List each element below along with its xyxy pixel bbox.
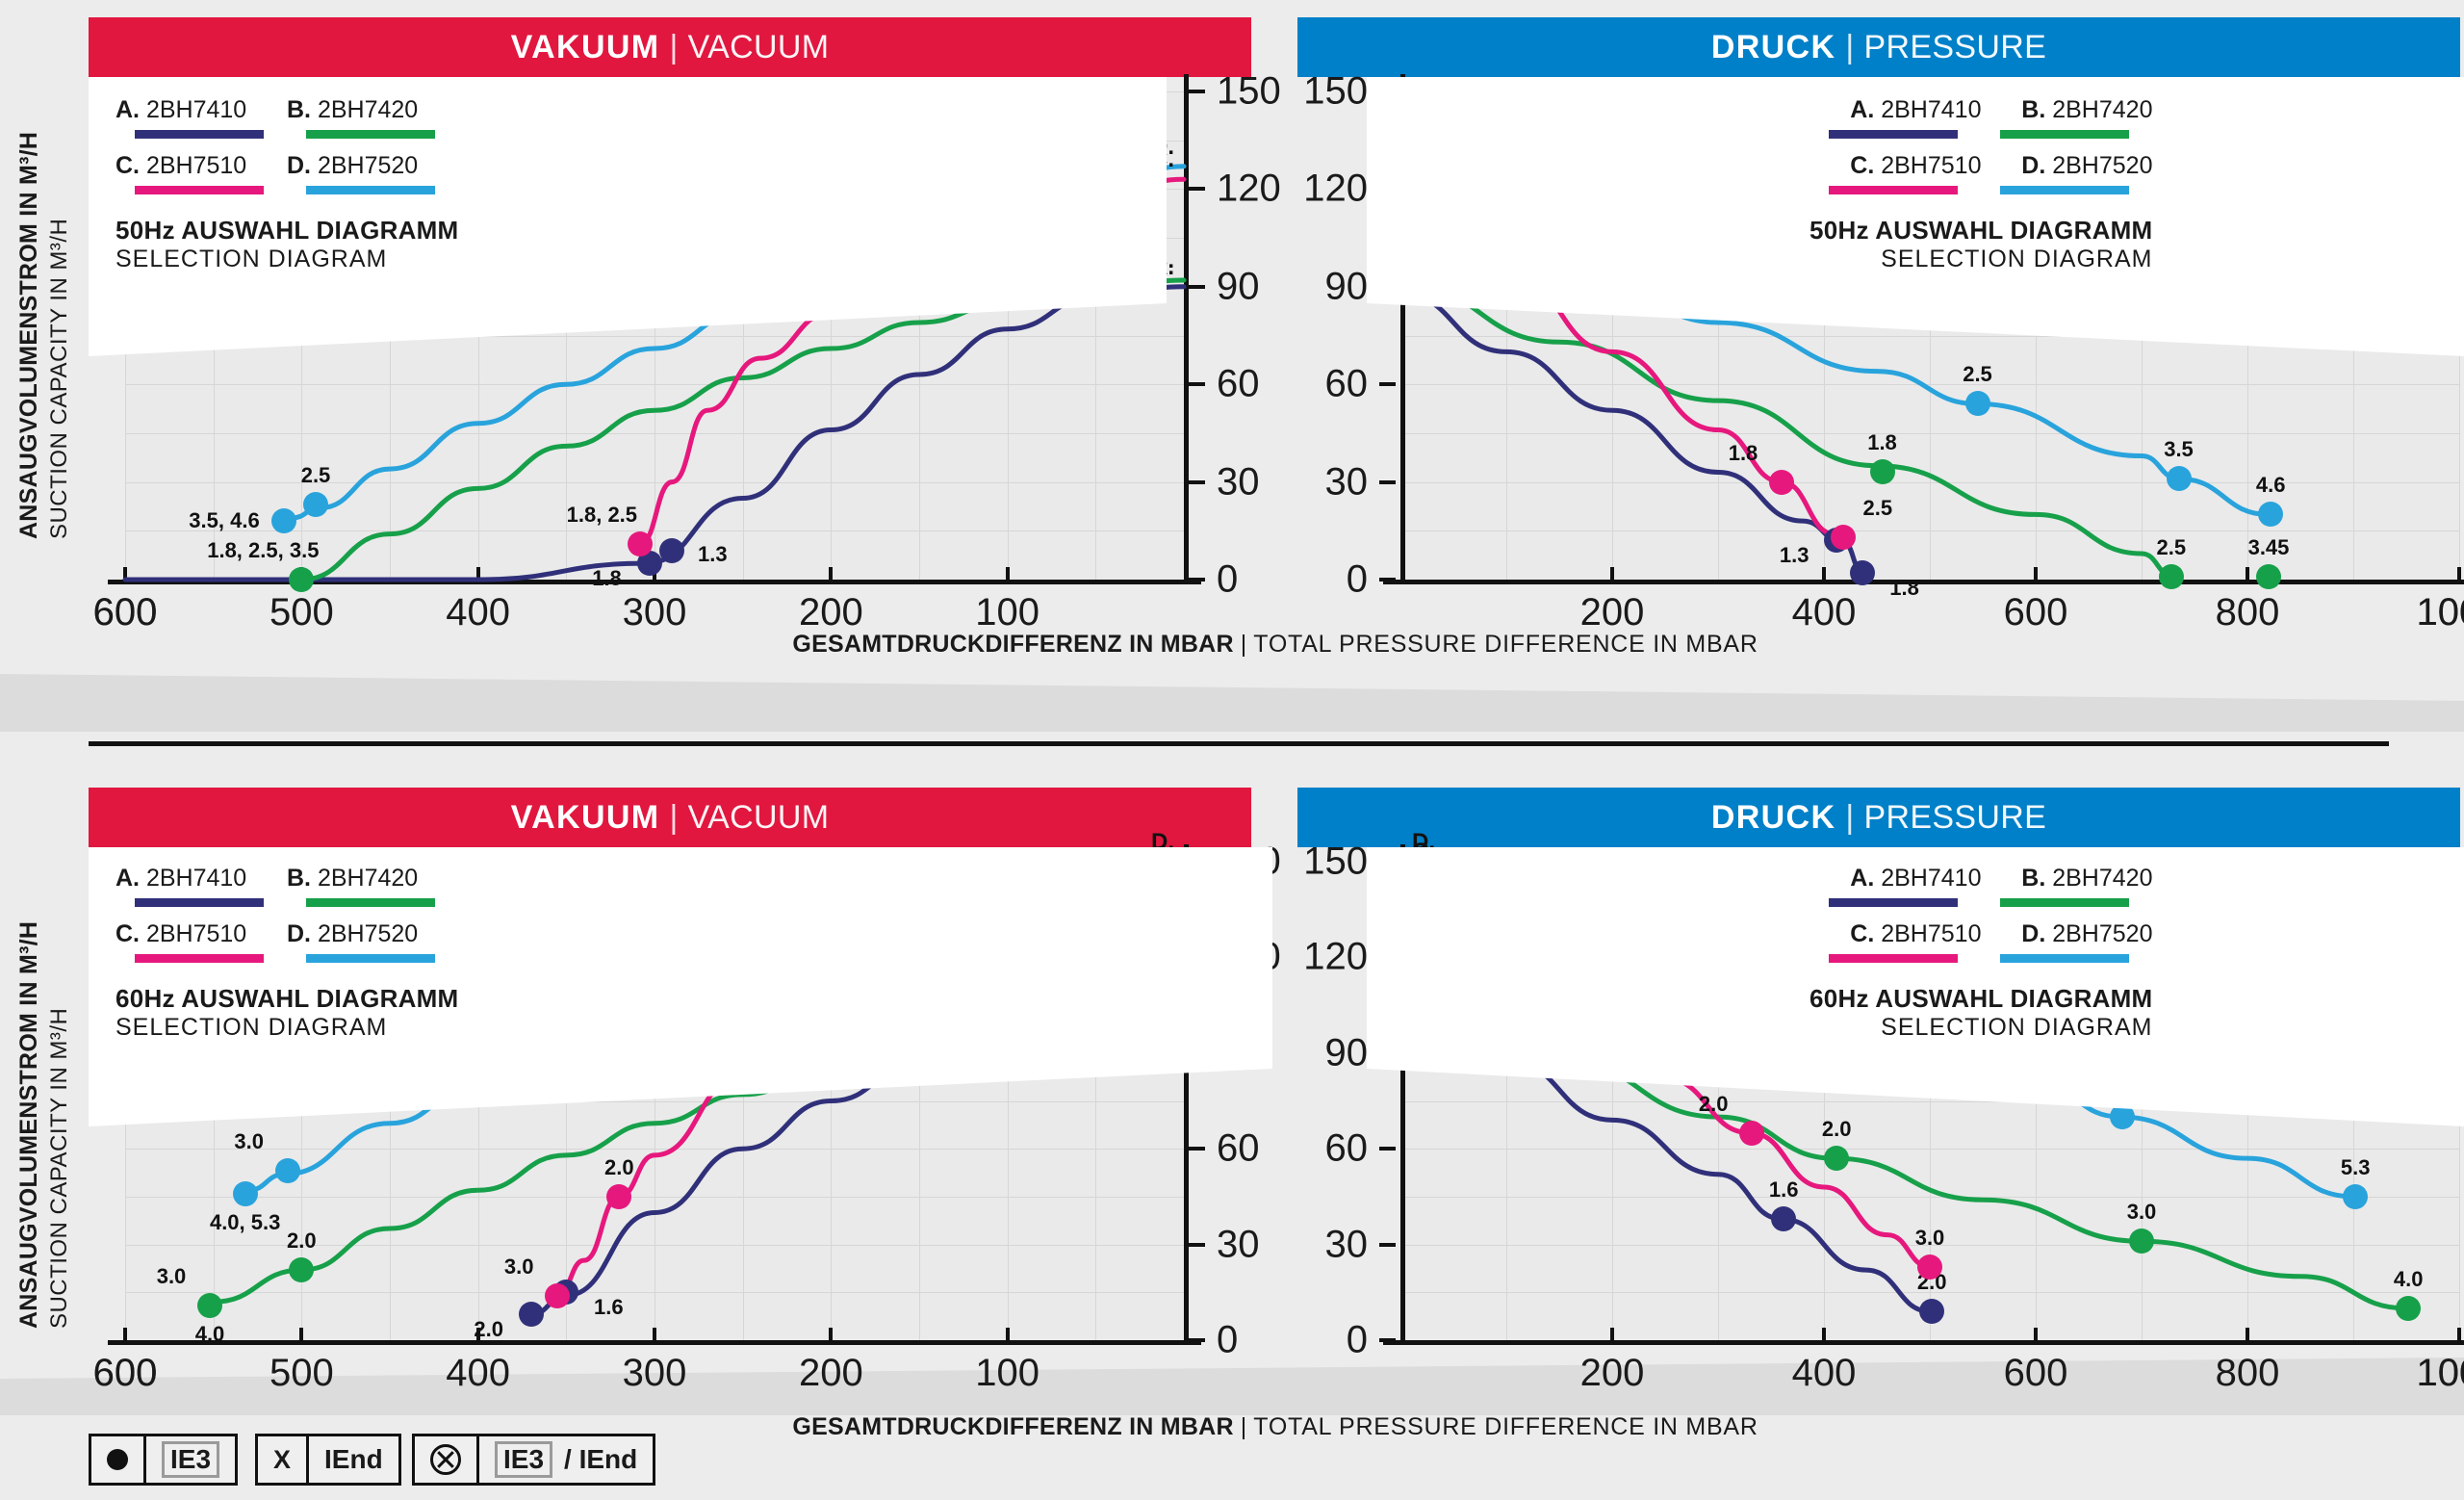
symbol-legend-iend: X IEnd <box>255 1434 401 1486</box>
y-tick-label: 60 <box>1325 363 1369 406</box>
data-point-label: 3.0 <box>234 1129 264 1154</box>
legend-hz-sub-prs60: SELECTION DIAGRAM <box>1809 1014 2152 1042</box>
x-tick <box>2034 1328 2038 1340</box>
data-point-marker <box>1771 1206 1796 1231</box>
x-tick-label: 200 <box>1580 1352 1645 1395</box>
x-tick <box>1610 1328 1614 1340</box>
legend-swatch-2BH7410 <box>1829 130 1958 139</box>
data-point-marker <box>1965 391 1990 416</box>
legend-model-2BH7510: 2BH7510 <box>1874 152 1981 179</box>
x-tick-label: 600 <box>2004 1352 2068 1395</box>
data-point-label: 2.0 <box>1699 1092 1729 1117</box>
x-tick-label: 600 <box>93 591 158 634</box>
data-point-label: 4.0 <box>195 1322 225 1347</box>
data-point-label: 3.0 <box>1915 1226 1945 1251</box>
legend-head-2BH7520: D. 2BH7520 <box>1981 920 2152 948</box>
data-point-label: 3.0 <box>504 1254 534 1280</box>
x-tick-label: 800 <box>2216 591 2280 634</box>
legend-row-1: A. 2BH7410B. 2BH7420 <box>1809 865 2152 920</box>
y-tick-label: 60 <box>1217 363 1260 406</box>
panel-title-separator-vac50: | <box>669 29 678 66</box>
x-tick <box>829 567 833 580</box>
data-point-label: 3.45 <box>2248 535 2290 560</box>
x-axis-prs50 <box>1383 580 2464 584</box>
y-axis-caption-bold-2: ANSAUGVOLUMENSTROM IN M³/H <box>15 921 43 1329</box>
gridline-horizontal <box>1400 1149 2459 1150</box>
data-point-marker <box>233 1181 258 1206</box>
y-tick <box>1189 1147 1205 1151</box>
legend-head-2BH7510: C. 2BH7510 <box>1809 920 1981 948</box>
gridline-horizontal <box>125 1245 1184 1246</box>
panel-title-prs60: DRUCK|PRESSURE <box>1297 788 2460 847</box>
legend-head-2BH7420: B. 2BH7420 <box>1981 865 2152 892</box>
data-point-marker <box>303 492 328 517</box>
x-tick-label: 200 <box>799 1352 863 1395</box>
symbol-cell-circle-x <box>415 1436 476 1483</box>
legend-key-A: A. <box>115 865 140 892</box>
legend-key-D: D. <box>287 920 311 947</box>
x-tick <box>2457 1328 2461 1340</box>
symbol-cell-ie3: IE3 <box>143 1436 235 1483</box>
legend-head-2BH7510: C. 2BH7510 <box>115 920 287 948</box>
panel-title-bold-vac50: VAKUUM <box>511 29 660 66</box>
y-tick-label: 120 <box>1303 936 1368 979</box>
data-point-marker <box>289 567 314 592</box>
legend-item-2BH7420: B. 2BH7420 <box>1981 96 2152 152</box>
legend-item-2BH7420: B. 2BH7420 <box>1981 865 2152 920</box>
symbol-cell-iend: IEnd <box>306 1436 398 1483</box>
panel-title-light-vac50: VACUUM <box>688 29 830 66</box>
legend-prs50: A. 2BH7410B. 2BH7420C. 2BH7510D. 2BH7520… <box>1809 96 2152 273</box>
legend-model-2BH7420: 2BH7420 <box>311 865 418 892</box>
legend-model-2BH7510: 2BH7510 <box>140 152 246 179</box>
legend-item-2BH7410: A. 2BH7410 <box>1809 96 1981 152</box>
gridline-horizontal <box>125 1292 1184 1293</box>
x-axis-caption-top: GESAMTDRUCKDIFFERENZ IN MBAR|TOTAL PRESS… <box>792 631 1758 659</box>
symbol-legend-both: IE3 / IEnd <box>412 1434 655 1486</box>
data-point-marker <box>2159 564 2184 589</box>
gridline-horizontal <box>125 433 1184 434</box>
gridline-horizontal <box>1400 384 2459 385</box>
y-axis-caption-light: SUCTION CAPACITY IN M³/H <box>46 132 73 539</box>
legend-hz-title-prs50: 50Hz AUSWAHL DIAGRAMM <box>1809 216 2152 246</box>
legend-hz-sub-vac60: SELECTION DIAGRAM <box>115 1014 458 1042</box>
x-tick <box>2246 567 2249 580</box>
legend-row-1: A. 2BH7410B. 2BH7420 <box>1809 96 2152 152</box>
y-tick <box>1189 90 1205 93</box>
x-tick <box>653 1328 656 1340</box>
legend-swatch-2BH7410 <box>135 898 264 907</box>
panel-title-light-prs60: PRESSURE <box>1864 799 2047 837</box>
data-point-marker <box>2343 1184 2368 1209</box>
circle-x-icon <box>430 1444 461 1475</box>
panel-title-separator-prs50: | <box>1845 29 1854 66</box>
legend-vac50: A. 2BH7410B. 2BH7420C. 2BH7510D. 2BH7520… <box>115 96 458 273</box>
legend-hz-title-vac50: 50Hz AUSWAHL DIAGRAMM <box>115 216 458 246</box>
legend-row-2: C. 2BH7510D. 2BH7520 <box>115 920 458 976</box>
legend-head-2BH7510: C. 2BH7510 <box>115 152 287 180</box>
y-axis-caption-light-2: SUCTION CAPACITY IN M³/H <box>46 921 73 1329</box>
legend-swatch-2BH7520 <box>306 186 435 194</box>
legend-key-D: D. <box>2021 920 2045 947</box>
y-tick-label: 90 <box>1325 265 1369 308</box>
x-tick-label: 600 <box>93 1352 158 1395</box>
data-point-label: 1.8 <box>1889 576 1919 601</box>
data-point-marker <box>2256 564 2281 589</box>
x-tick-label: 1000 <box>2417 591 2464 634</box>
y-axis-caption-top: ANSAUGVOLUMENSTROM IN M³/H SUCTION CAPAC… <box>15 132 73 539</box>
legend-swatch-2BH7520 <box>2000 186 2129 194</box>
legend-hz-sub-prs50: SELECTION DIAGRAM <box>1809 246 2152 273</box>
legend-item-2BH7410: A. 2BH7410 <box>115 96 287 152</box>
symbol-legend-ie3: IE3 <box>89 1434 238 1486</box>
y-tick <box>1379 382 1396 386</box>
x-tick <box>476 567 480 580</box>
x-tick-label: 400 <box>1792 591 1857 634</box>
legend-key-D: D. <box>287 152 311 179</box>
data-point-label: 1.8, 2.5, 3.5 <box>207 538 319 563</box>
legend-model-2BH7410: 2BH7410 <box>1874 865 1981 892</box>
ie3-label-2: IE3 <box>495 1441 552 1478</box>
x-tick <box>2034 567 2038 580</box>
data-point-label: 2.5 <box>301 463 331 488</box>
legend-vac60: A. 2BH7410B. 2BH7420C. 2BH7510D. 2BH7520… <box>115 865 458 1042</box>
legend-key-A: A. <box>1850 96 1874 123</box>
x-tick-label: 400 <box>446 1352 510 1395</box>
x-tick-label: 200 <box>1580 591 1645 634</box>
data-point-marker <box>519 1302 544 1327</box>
data-point-marker <box>1739 1121 1764 1146</box>
legend-swatch-2BH7410 <box>135 130 264 139</box>
legend-key-C: C. <box>1850 920 1874 947</box>
legend-swatch-2BH7510 <box>135 186 264 194</box>
legend-key-A: A. <box>1850 865 1874 892</box>
x-tick <box>1822 567 1826 580</box>
symbol-cell-ie3-iend: IE3 / IEnd <box>476 1436 653 1483</box>
data-point-label: 2.0 <box>604 1155 634 1180</box>
legend-swatch-2BH7520 <box>306 954 435 963</box>
data-point-marker <box>1769 470 1794 495</box>
legend-model-2BH7520: 2BH7520 <box>2045 920 2152 947</box>
y-tick-label: 30 <box>1217 1223 1260 1266</box>
decor-diagonal-bottom <box>0 1358 2464 1415</box>
x-tick <box>2246 1328 2249 1340</box>
data-point-marker <box>1917 1254 1942 1280</box>
x-tick <box>2457 567 2461 580</box>
x-tick-label: 500 <box>269 1352 334 1395</box>
data-point-label: 4.0 <box>2394 1267 2424 1292</box>
data-point-marker <box>628 531 653 556</box>
y-tick <box>1379 578 1396 582</box>
legend-swatch-2BH7410 <box>1829 898 1958 907</box>
legend-item-2BH7520: D. 2BH7520 <box>1981 920 2152 976</box>
ie3-label: IE3 <box>162 1441 219 1478</box>
legend-swatch-2BH7510 <box>135 954 264 963</box>
legend-key-B: B. <box>287 96 311 123</box>
y-axis-caption-bold: ANSAUGVOLUMENSTROM IN M³/H <box>15 132 43 539</box>
legend-head-2BH7510: C. 2BH7510 <box>1809 152 1981 180</box>
data-point-label: 1.3 <box>1780 543 1809 568</box>
panel-title-vac60: VAKUUM|VACUUM <box>89 788 1251 847</box>
gridline-horizontal <box>1400 433 2459 434</box>
data-point-marker <box>1919 1299 1944 1324</box>
legend-row-2: C. 2BH7510D. 2BH7520 <box>115 152 458 208</box>
data-point-label: 4.6 <box>2256 473 2286 498</box>
legend-hz-title-prs60: 60Hz AUSWAHL DIAGRAMM <box>1809 984 2152 1014</box>
data-point-label: 3.0 <box>157 1264 187 1289</box>
y-tick-label: 120 <box>1303 168 1368 211</box>
x-caption-light-2: TOTAL PRESSURE DIFFERENCE IN MBAR <box>1253 1413 1758 1440</box>
data-point-label: 4.0, 5.3 <box>210 1210 280 1235</box>
legend-key-C: C. <box>115 152 140 179</box>
y-tick <box>1189 480 1205 484</box>
x-tick-label: 300 <box>623 591 687 634</box>
x-tick-label: 100 <box>975 591 1039 634</box>
legend-row-1: A. 2BH7410B. 2BH7420 <box>115 865 458 920</box>
x-tick <box>299 1328 303 1340</box>
data-point-label: 1.8 <box>592 566 622 591</box>
legend-swatch-2BH7510 <box>1829 186 1958 194</box>
legend-model-2BH7420: 2BH7420 <box>2045 865 2152 892</box>
x-tick <box>1006 1328 1010 1340</box>
legend-item-2BH7410: A. 2BH7410 <box>115 865 287 920</box>
y-tick <box>1189 382 1205 386</box>
panel-title-bold-prs50: DRUCK <box>1711 29 1836 66</box>
x-axis-caption-bottom: GESAMTDRUCKDIFFERENZ IN MBAR|TOTAL PRESS… <box>792 1413 1758 1441</box>
legend-model-2BH7410: 2BH7410 <box>1874 96 1981 123</box>
data-point-label: 2.5 <box>1863 496 1893 521</box>
panel-title-bold-vac60: VAKUUM <box>511 799 660 837</box>
gridline-horizontal <box>125 1197 1184 1198</box>
legend-item-2BH7510: C. 2BH7510 <box>115 152 287 208</box>
data-point-marker <box>275 1158 300 1183</box>
legend-model-2BH7510: 2BH7510 <box>140 920 246 947</box>
legend-item-2BH7510: C. 2BH7510 <box>1809 152 1981 208</box>
legend-key-A: A. <box>115 96 140 123</box>
y-axis-caption-bottom: ANSAUGVOLUMENSTROM IN M³/H SUCTION CAPAC… <box>15 921 73 1329</box>
data-point-label: 3.5 <box>2164 437 2194 462</box>
legend-model-2BH7410: 2BH7410 <box>140 865 246 892</box>
legend-head-2BH7410: A. 2BH7410 <box>115 865 287 892</box>
data-point-label: 2.0 <box>1822 1117 1852 1142</box>
legend-model-2BH7520: 2BH7520 <box>311 152 418 179</box>
x-tick <box>829 1328 833 1340</box>
x-caption-bold-2: GESAMTDRUCKDIFFERENZ IN MBAR <box>792 1413 1233 1440</box>
legend-swatch-2BH7420 <box>2000 130 2129 139</box>
legend-item-2BH7410: A. 2BH7410 <box>1809 865 1981 920</box>
data-point-label: 2.0 <box>287 1228 317 1254</box>
symbol-cell-x: X <box>258 1436 306 1483</box>
panel-title-light-vac60: VACUUM <box>688 799 830 837</box>
legend-head-2BH7410: A. 2BH7410 <box>1809 96 1981 124</box>
legend-item-2BH7520: D. 2BH7520 <box>287 920 458 976</box>
legend-key-D: D. <box>2021 152 2045 179</box>
data-point-label: 1.8, 2.5 <box>567 503 637 528</box>
x-tick <box>123 567 127 580</box>
data-point-marker <box>1870 459 1895 484</box>
legend-head-2BH7520: D. 2BH7520 <box>1981 152 2152 180</box>
y-tick-label: 30 <box>1325 460 1369 504</box>
data-point-label: 1.6 <box>1769 1177 1799 1203</box>
data-point-label: 1.6 <box>594 1295 624 1320</box>
x-tick-label: 600 <box>2004 591 2068 634</box>
panel-title-bold-prs60: DRUCK <box>1711 799 1836 837</box>
ie3-iend-suffix: / IEnd <box>564 1444 637 1475</box>
gridline-horizontal <box>1400 1197 2459 1198</box>
data-point-marker <box>2258 502 2283 527</box>
legend-key-C: C. <box>1850 152 1874 179</box>
legend-swatch-2BH7420 <box>2000 898 2129 907</box>
legend-model-2BH7420: 2BH7420 <box>311 96 418 123</box>
x-tick <box>1822 1328 1826 1340</box>
y-tick-label: 60 <box>1217 1127 1260 1171</box>
legend-swatch-2BH7420 <box>306 130 435 139</box>
y-tick <box>1379 480 1396 484</box>
legend-key-C: C. <box>115 920 140 947</box>
legend-swatch-2BH7520 <box>2000 954 2129 963</box>
x-tick-label: 400 <box>446 591 510 634</box>
data-point-marker <box>2396 1296 2421 1321</box>
data-point-marker <box>606 1184 631 1209</box>
x-tick-label: 300 <box>623 1352 687 1395</box>
panel-title-separator-vac60: | <box>669 799 678 837</box>
data-point-marker <box>2129 1228 2154 1254</box>
legend-head-2BH7520: D. 2BH7520 <box>287 152 458 180</box>
y-tick-label: 30 <box>1217 460 1260 504</box>
legend-hz-title-vac60: 60Hz AUSWAHL DIAGRAMM <box>115 984 458 1014</box>
legend-head-2BH7410: A. 2BH7410 <box>1809 865 1981 892</box>
legend-key-B: B. <box>2021 96 2045 123</box>
panel-title-vac50: VAKUUM|VACUUM <box>89 17 1251 77</box>
legend-model-2BH7420: 2BH7420 <box>2045 96 2152 123</box>
x-axis-vac60 <box>108 1340 1201 1345</box>
x-axis-vac50 <box>108 580 1201 584</box>
legend-model-2BH7520: 2BH7520 <box>2045 152 2152 179</box>
decor-diagonal-top <box>0 674 2464 732</box>
panel-title-separator-prs60: | <box>1845 799 1854 837</box>
legend-head-2BH7410: A. 2BH7410 <box>115 96 287 124</box>
legend-head-2BH7420: B. 2BH7420 <box>1981 96 2152 124</box>
gridline-horizontal <box>125 482 1184 483</box>
x-tick <box>1006 567 1010 580</box>
legend-hz-sub-vac50: SELECTION DIAGRAM <box>115 246 458 273</box>
y-tick-label: 150 <box>1217 70 1281 114</box>
legend-item-2BH7420: B. 2BH7420 <box>287 96 458 152</box>
data-point-marker <box>289 1257 314 1282</box>
bullet-icon <box>107 1449 128 1470</box>
x-caption-light: TOTAL PRESSURE DIFFERENCE IN MBAR <box>1253 631 1758 658</box>
data-point-marker <box>271 508 296 533</box>
section-divider <box>89 741 2389 746</box>
data-point-label: 1.3 <box>698 542 728 567</box>
x-tick-label: 100 <box>975 1352 1039 1395</box>
legend-row-2: C. 2BH7510D. 2BH7520 <box>1809 920 2152 976</box>
data-point-marker <box>2167 466 2192 491</box>
data-point-label: 1.8 <box>1729 441 1758 466</box>
x-tick <box>1610 567 1614 580</box>
y-tick <box>1379 1338 1396 1342</box>
y-tick-label: 0 <box>1217 1319 1238 1362</box>
y-axis-vac50 <box>1184 74 1189 584</box>
x-tick <box>123 1328 127 1340</box>
gridline-horizontal <box>1400 482 2459 483</box>
legend-model-2BH7520: 2BH7520 <box>311 920 418 947</box>
data-point-marker <box>1831 525 1856 550</box>
gridline-horizontal <box>125 384 1184 385</box>
y-tick-label: 120 <box>1217 168 1281 211</box>
data-point-label: 1.8 <box>1867 430 1897 455</box>
legend-swatch-2BH7510 <box>1829 954 1958 963</box>
data-point-label: 3.5, 4.6 <box>189 508 259 533</box>
y-tick <box>1189 1243 1205 1247</box>
y-tick-label: 0 <box>1347 1319 1368 1362</box>
y-tick <box>1379 1243 1396 1247</box>
y-tick <box>1379 1147 1396 1151</box>
x-tick-label: 1000 <box>2417 1352 2464 1395</box>
y-tick <box>1189 285 1205 289</box>
gridline-horizontal <box>125 1149 1184 1150</box>
data-point-label: 5.3 <box>2341 1155 2371 1180</box>
legend-swatch-2BH7420 <box>306 898 435 907</box>
legend-head-2BH7420: B. 2BH7420 <box>287 865 458 892</box>
legend-key-B: B. <box>287 865 311 892</box>
y-tick-label: 30 <box>1325 1223 1369 1266</box>
y-tick-label: 90 <box>1217 265 1260 308</box>
x-tick-label: 800 <box>2216 1352 2280 1395</box>
y-tick-label: 60 <box>1325 1127 1369 1171</box>
legend-head-2BH7420: B. 2BH7420 <box>287 96 458 124</box>
legend-model-2BH7410: 2BH7410 <box>140 96 246 123</box>
y-tick-label: 150 <box>1303 70 1368 114</box>
data-point-marker <box>1850 560 1875 585</box>
symbol-cell-bullet <box>91 1436 143 1483</box>
y-tick <box>1189 578 1205 582</box>
data-point-marker <box>659 538 684 563</box>
data-point-label: 3.0 <box>2127 1200 2157 1225</box>
legend-row-2: C. 2BH7510D. 2BH7520 <box>1809 152 2152 208</box>
y-tick <box>1189 1338 1205 1342</box>
y-tick-label: 150 <box>1303 841 1368 884</box>
y-tick-label: 0 <box>1217 558 1238 602</box>
panel-title-light-prs50: PRESSURE <box>1864 29 2047 66</box>
y-tick-label: 90 <box>1325 1031 1369 1074</box>
legend-item-2BH7520: D. 2BH7520 <box>287 152 458 208</box>
x-tick-label: 200 <box>799 591 863 634</box>
x-tick-label: 500 <box>269 591 334 634</box>
data-point-label: 2.5 <box>1963 362 1992 387</box>
y-tick-label: 0 <box>1347 558 1368 602</box>
legend-item-2BH7420: B. 2BH7420 <box>287 865 458 920</box>
gridline-horizontal <box>1400 530 2459 531</box>
legend-prs60: A. 2BH7410B. 2BH7420C. 2BH7510D. 2BH7520… <box>1809 865 2152 1042</box>
legend-head-2BH7520: D. 2BH7520 <box>287 920 458 948</box>
x-axis-prs60 <box>1383 1340 2464 1345</box>
y-tick <box>1189 187 1205 191</box>
data-point-label: 2.0 <box>474 1317 503 1342</box>
data-point-marker <box>197 1293 222 1318</box>
legend-model-2BH7510: 2BH7510 <box>1874 920 1981 947</box>
data-point-marker <box>545 1283 570 1308</box>
x-caption-bold: GESAMTDRUCKDIFFERENZ IN MBAR <box>792 631 1233 658</box>
x-tick-label: 400 <box>1792 1352 1857 1395</box>
panel-title-prs50: DRUCK|PRESSURE <box>1297 17 2460 77</box>
data-point-label: 2.5 <box>2157 535 2187 560</box>
legend-key-B: B. <box>2021 865 2045 892</box>
legend-item-2BH7510: C. 2BH7510 <box>1809 920 1981 976</box>
legend-item-2BH7510: C. 2BH7510 <box>115 920 287 976</box>
legend-row-1: A. 2BH7410B. 2BH7420 <box>115 96 458 152</box>
legend-item-2BH7520: D. 2BH7520 <box>1981 152 2152 208</box>
